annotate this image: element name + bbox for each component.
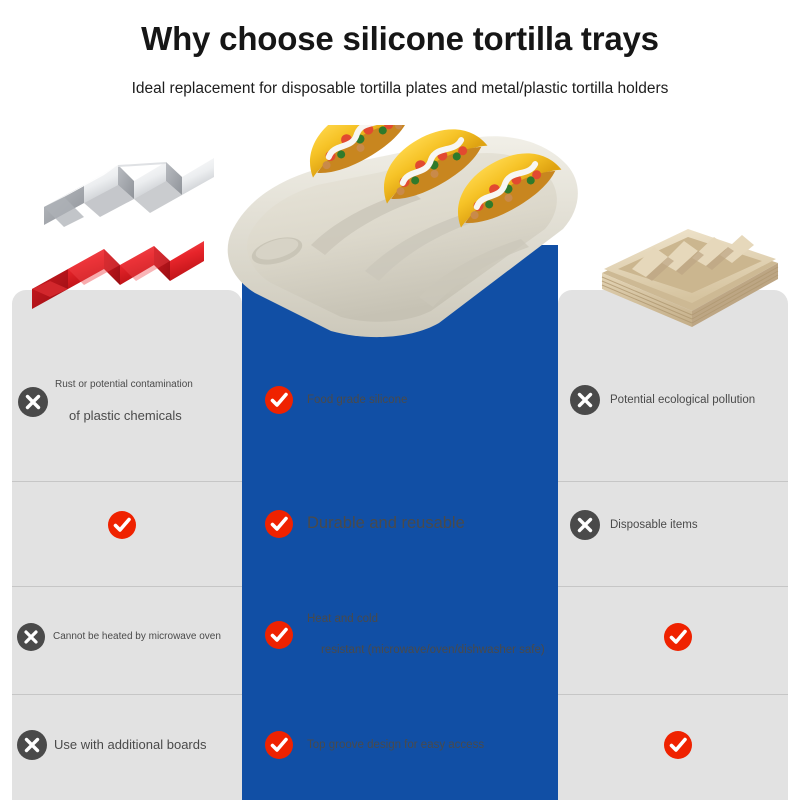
row-divider-right-2 [558,586,788,587]
cell-right-row-3 [570,617,795,657]
cross-icon [570,385,600,415]
cell-center-row-1-text: Food grade silicone [307,392,407,409]
silicone-tray-image [215,125,595,350]
cell-left-row-1-text: Rust or potential contamination of plast… [55,378,193,425]
cell-center-row-1: Food grade silicone [265,380,555,420]
cross-icon [18,387,48,417]
cell-center-row-2: Durable and reusable [265,504,555,544]
hero-images [0,120,800,380]
cell-center-row-3-text: Heat and cold resistant (microwave/oven/… [307,611,545,658]
row-divider-left-3 [12,694,242,695]
cell-right-row-2-text: Disposable items [610,517,698,534]
cell-center-row-4: Top groove design for easy access [265,725,557,765]
cell-center-row-3: Heat and cold resistant (microwave/oven/… [265,600,557,670]
check-icon [265,510,293,538]
disposable-trays-image [592,215,788,345]
metal-plastic-holders-image [20,145,235,335]
check-icon [664,731,692,759]
row-divider-right-1 [558,481,788,482]
cross-icon [570,510,600,540]
row-divider-right-3 [558,694,788,695]
check-icon [265,386,293,414]
infographic-page: Why choose silicone tortilla trays Ideal… [0,0,800,800]
cell-center-row-4-text: Top groove design for easy access [307,737,484,754]
taco-holders-illustration [20,145,235,335]
check-icon [108,511,136,539]
cell-right-row-4 [570,725,795,765]
check-icon [265,621,293,649]
cell-left-row-1: Rust or potential contamination of plast… [12,372,248,432]
cell-center-row-2-text: Durable and reusable [307,512,465,536]
pulp-tray-stack-illustration [592,215,788,345]
check-icon [664,623,692,651]
cell-left-row-4-text: Use with additional boards [54,736,206,755]
cell-left-row-2 [12,505,242,545]
row-divider-left-1 [12,481,242,482]
check-icon [265,731,293,759]
cell-left-row-3-text: Cannot be heated by microwave oven [53,630,221,645]
cell-right-row-1-text: Potential ecological pollution [610,392,755,409]
cross-icon [17,730,47,760]
cross-icon [17,623,45,651]
cell-left-row-4: Use with additional boards [12,725,247,765]
cell-left-row-3: Cannot be heated by microwave oven [12,617,247,657]
silicone-tray-illustration [215,125,595,350]
cell-right-row-2: Disposable items [570,505,795,545]
row-divider-left-2 [12,586,242,587]
cell-right-row-1: Potential ecological pollution [570,380,795,420]
